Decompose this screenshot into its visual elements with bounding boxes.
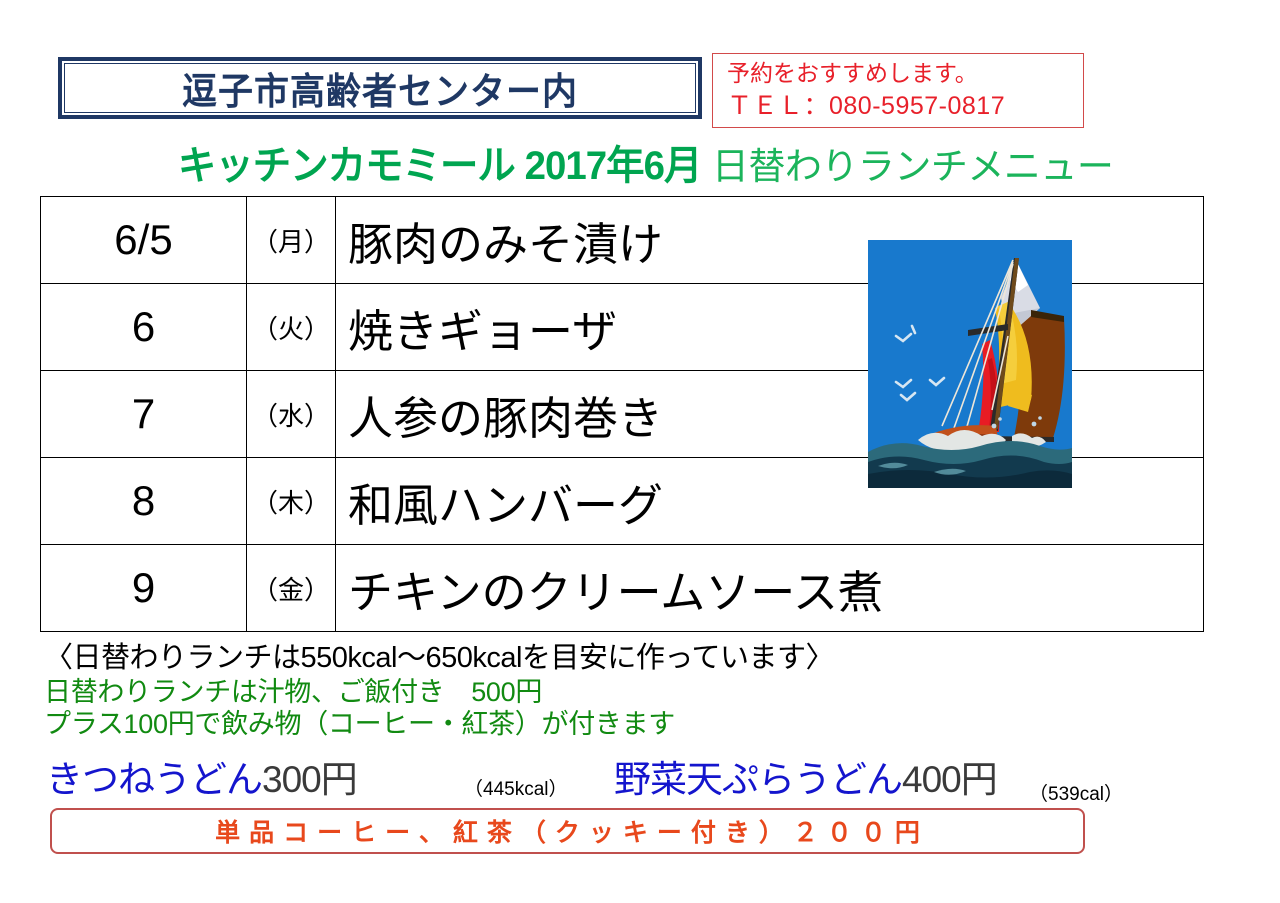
cell-day: （木） <box>247 458 336 545</box>
cell-day: （金） <box>247 545 336 632</box>
reservation-note: 予約をおすすめします。 <box>727 57 1083 90</box>
udon-2-name: 野菜天ぷらうどん <box>614 759 902 800</box>
cell-day: （火） <box>247 284 336 371</box>
day-text: （水） <box>252 401 330 431</box>
center-name-box: 逗子市高齢者センター内 <box>58 57 702 119</box>
sailboat-icon <box>868 240 1072 488</box>
note-kcal-range: 〈日替わりランチは550kcal〜650kcalを目安に作っています〉 <box>44 640 1244 676</box>
header-area: 逗子市高齢者センター内 予約をおすすめします。 ＴＥＬ：080-5957-081… <box>0 0 1280 140</box>
center-name-box-inner: 逗子市高齢者センター内 <box>64 63 696 113</box>
date-text: 9 <box>132 564 155 611</box>
dish-text: 和風ハンバーグ <box>336 469 663 534</box>
udon-price-row: きつねうどん300円 （445kcal） 野菜天ぷらうどん400円 （539ca… <box>44 757 1244 805</box>
notes-section: 〈日替わりランチは550kcal〜650kcalを目安に作っています〉 日替わり… <box>44 640 1244 740</box>
day-text: （月） <box>252 227 330 257</box>
cell-day: （月） <box>247 197 336 284</box>
day-text: （木） <box>252 488 330 518</box>
table-row: 9 （金） チキンのクリームソース煮 <box>41 545 1204 632</box>
day-text: （火） <box>252 314 330 344</box>
dish-text: 焼きギョーザ <box>336 295 617 360</box>
cell-date: 7 <box>41 371 247 458</box>
center-name-text: 逗子市高齢者センター内 <box>182 61 578 115</box>
cell-date: 8 <box>41 458 247 545</box>
dish-text: 人参の豚肉巻き <box>336 382 663 447</box>
cell-date: 6/5 <box>41 197 247 284</box>
cell-dish: 豚肉のみそ漬け <box>336 197 1204 284</box>
cell-dish: 和風ハンバーグ <box>336 458 1204 545</box>
cell-dish: 人参の豚肉巻き <box>336 371 1204 458</box>
coffee-price-box: 単品コーヒー、紅茶（クッキー付き）２００円 <box>50 808 1085 854</box>
date-text: 6/5 <box>114 216 172 263</box>
cell-date: 9 <box>41 545 247 632</box>
page-title: キッチンカモミール 2017年6月日替わりランチメニュー <box>0 133 1280 191</box>
page-title-menu-label: 日替わりランチメニュー <box>712 136 1114 190</box>
reservation-tel-box: 予約をおすすめします。 ＴＥＬ：080-5957-0817 <box>712 53 1084 128</box>
page-title-shop-month: キッチンカモミール 2017年6月 <box>177 133 701 191</box>
udon-2-price: 400円 <box>902 759 997 800</box>
note-lunch-price: 日替わりランチは汁物、ご飯付き 500円 <box>44 676 1244 708</box>
udon-item-1: きつねうどん300円 <box>46 749 357 803</box>
date-text: 7 <box>132 390 155 437</box>
cell-dish: 焼きギョーザ <box>336 284 1204 371</box>
telephone-number: ＴＥＬ：080-5957-0817 <box>727 90 1083 123</box>
udon-1-calories: （445kcal） <box>464 774 568 801</box>
dish-text: チキンのクリームソース煮 <box>336 556 883 621</box>
udon-2-calories: （539cal） <box>1029 779 1123 806</box>
udon-item-2: 野菜天ぷらうどん400円 <box>614 749 997 803</box>
date-text: 6 <box>132 303 155 350</box>
coffee-price-text: 単品コーヒー、紅茶（クッキー付き）２００円 <box>206 813 929 849</box>
udon-1-name: きつねうどん <box>46 759 262 800</box>
cell-dish: チキンのクリームソース煮 <box>336 545 1204 632</box>
day-text: （金） <box>252 575 330 605</box>
note-drink-addon: プラス100円で飲み物（コーヒー・紅茶）が付きます <box>44 708 1244 740</box>
cell-date: 6 <box>41 284 247 371</box>
date-text: 8 <box>132 477 155 524</box>
cell-day: （水） <box>247 371 336 458</box>
udon-1-price: 300円 <box>262 759 357 800</box>
dish-text: 豚肉のみそ漬け <box>336 208 663 273</box>
